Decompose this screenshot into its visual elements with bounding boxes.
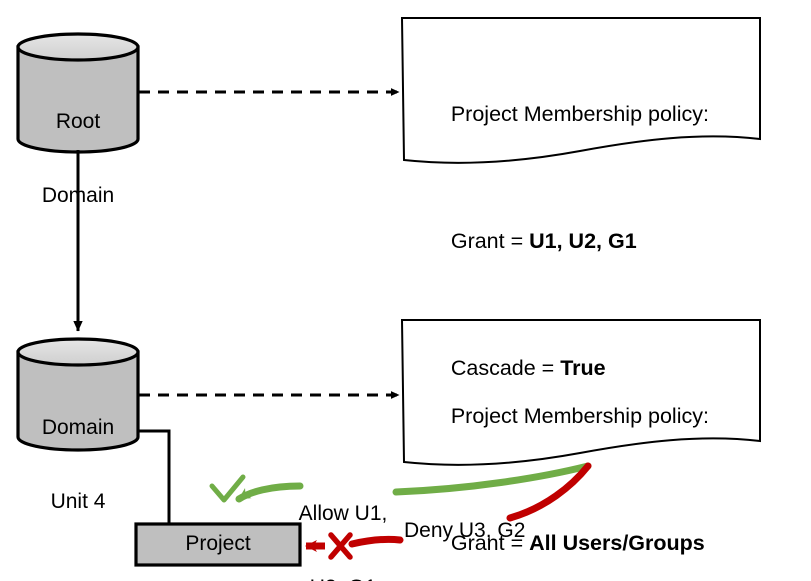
node-domain-unit-4-label: Domain Unit 4 xyxy=(18,366,138,564)
edge-label-allow-line1: Allow U1, xyxy=(278,502,408,527)
root-domain-cylinder-top xyxy=(18,34,138,60)
node-root-domain-label-line2: Domain xyxy=(18,184,138,209)
note-root-policy-line-1-plain: Project Membership policy: xyxy=(451,102,709,126)
node-project-label: Project xyxy=(136,532,300,557)
edge-label-deny: Deny U3, G2 xyxy=(404,519,584,544)
note-root-policy-line-2: Grant = U1, U2, G1 xyxy=(415,204,755,280)
note-domain-unit-policy-line-1: Project Membership policy: xyxy=(415,379,755,455)
node-domain-unit-4-label-line2: Unit 4 xyxy=(18,490,138,515)
note-root-policy-line-2-bold: U1, U2, G1 xyxy=(529,229,637,253)
edge-domain-unit-to-project xyxy=(137,431,169,524)
note-root-policy-line-1: Project Membership policy: xyxy=(415,77,755,153)
node-domain-unit-4-label-line1: Domain xyxy=(18,416,138,441)
node-root-domain-label-line1: Root xyxy=(18,110,138,135)
node-root-domain-label: Root Domain xyxy=(18,60,138,258)
diagram-canvas: Root Domain Domain Unit 4 Project Projec… xyxy=(0,0,811,581)
note-root-policy-line-2-plain: Grant = xyxy=(451,229,529,253)
domain-unit-4-cylinder-top xyxy=(18,339,138,365)
edge-label-allow-line2: U2, G1 xyxy=(278,576,408,581)
edge-label-allow: Allow U1, U2, G1 xyxy=(278,452,408,581)
note-domain-unit-policy-line-1-plain: Project Membership policy: xyxy=(451,404,709,428)
